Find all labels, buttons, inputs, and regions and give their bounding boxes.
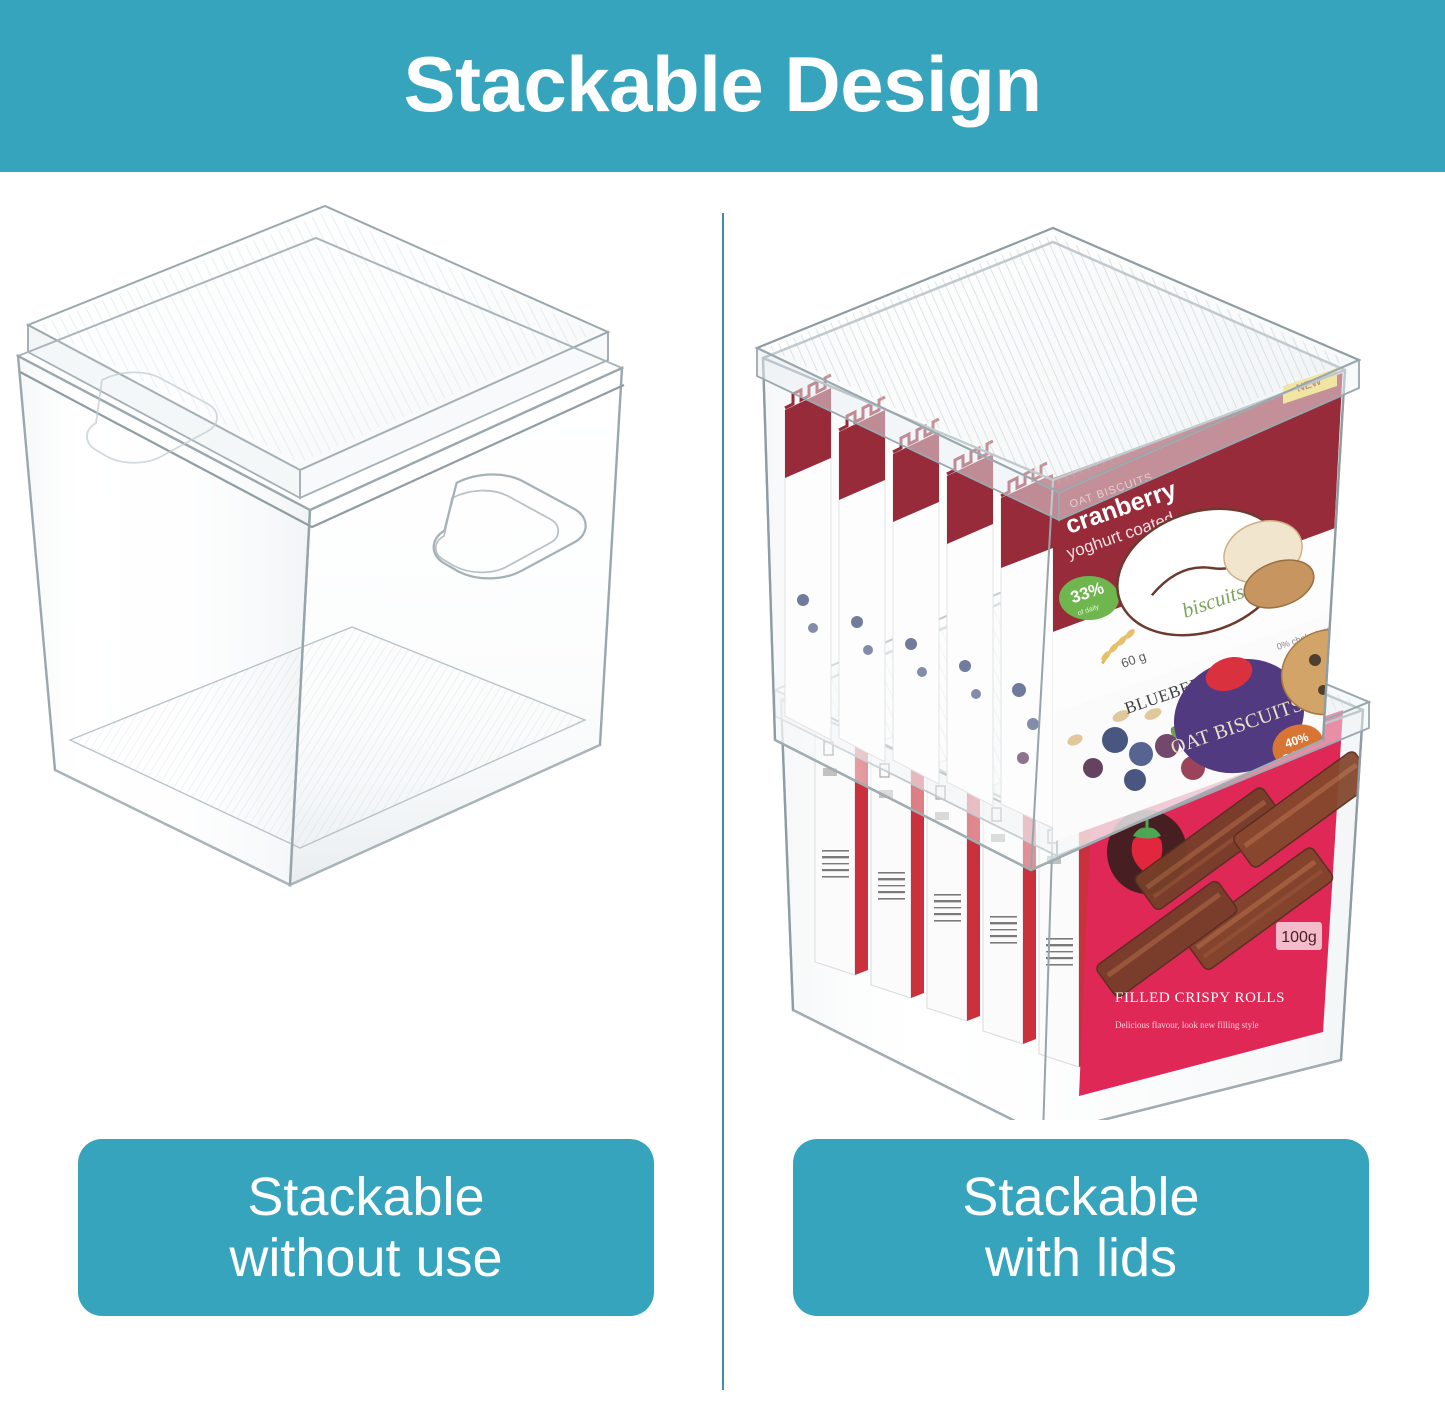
clear-bin-single-illustration <box>0 180 722 1120</box>
page-title: Stackable Design <box>404 45 1042 123</box>
bin-body <box>18 238 624 885</box>
header-banner: Stackable Design <box>0 0 1445 172</box>
clear-bins-stacked-illustration: 100g FILLED CRISPY ROLLS Delicious flavo… <box>723 180 1445 1120</box>
caption-left-text: Stackable without use <box>217 1167 514 1288</box>
caption-right: Stackable with lids <box>793 1139 1369 1316</box>
caption-left: Stackable without use <box>78 1139 654 1316</box>
left-product-stage <box>0 180 722 1120</box>
caption-right-text: Stackable with lids <box>950 1167 1211 1288</box>
right-product-stage: 100g FILLED CRISPY ROLLS Delicious flavo… <box>723 180 1445 1120</box>
